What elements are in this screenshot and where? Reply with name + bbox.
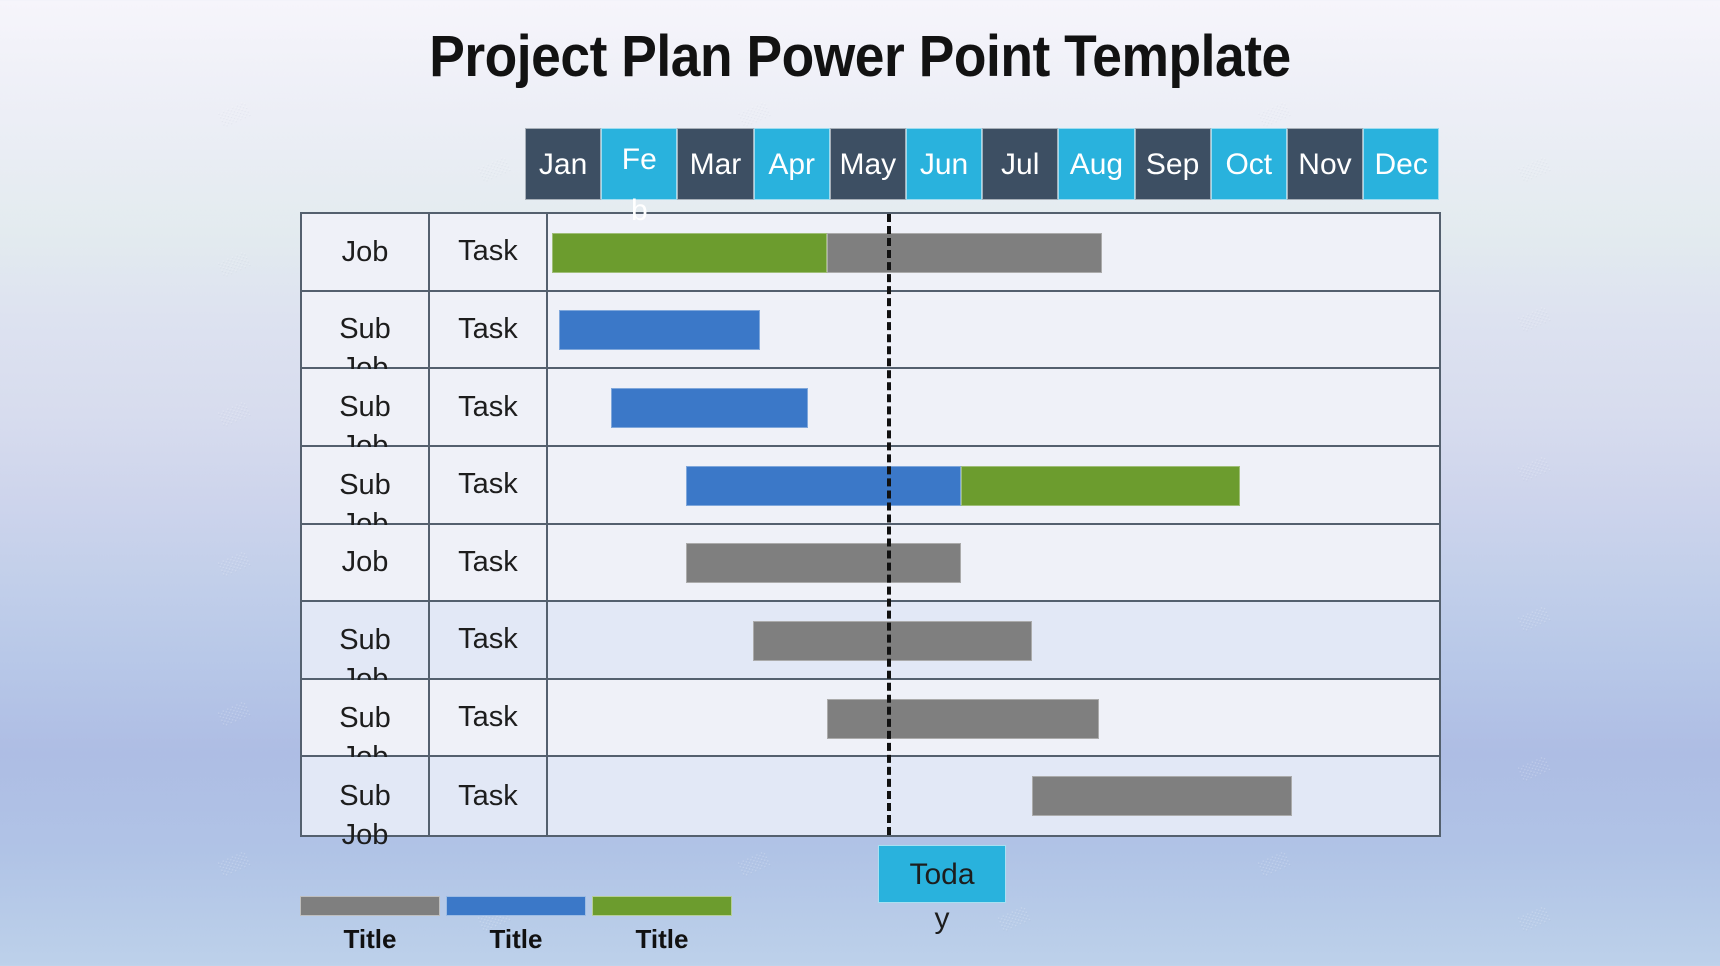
- month-header-dec[interactable]: Dec: [1363, 128, 1439, 200]
- month-label: Dec: [1364, 129, 1438, 201]
- watermark-text: ░░░: [1518, 606, 1552, 632]
- row-job-label: Job: [302, 233, 428, 271]
- gantt-rows: JobTaskSubJobTaskSubJobTaskSubJobTaskJob…: [302, 214, 1439, 835]
- month-header-feb[interactable]: Feb: [601, 128, 677, 200]
- table-row[interactable]: SubJobTask: [302, 292, 1439, 370]
- row-job-label: SubJob: [302, 621, 428, 659]
- watermark-text: ░░░: [1518, 306, 1552, 332]
- watermark-text: ░░░: [738, 851, 772, 877]
- month-header-jan[interactable]: Jan: [525, 128, 601, 200]
- row-task-cell: Task: [430, 602, 548, 678]
- month-header-mar[interactable]: Mar: [677, 128, 753, 200]
- row-job-cell: SubJob: [302, 447, 430, 523]
- month-label: Fe: [602, 129, 676, 191]
- month-label: Jan: [526, 129, 600, 201]
- row-job-label: SubJob: [302, 777, 428, 815]
- month-label: Apr: [755, 129, 829, 201]
- table-row[interactable]: SubJobTask: [302, 602, 1439, 680]
- watermark-text: ░░░: [218, 851, 252, 877]
- row-task-label: Task: [458, 623, 518, 656]
- row-task-cell: Task: [430, 680, 548, 756]
- month-label: Mar: [678, 129, 752, 201]
- legend-label: Title: [592, 924, 732, 954]
- row-job-cell: Job: [302, 525, 430, 601]
- row-job-cell: SubJob: [302, 757, 430, 835]
- row-task-cell: Task: [430, 525, 548, 601]
- month-header-apr[interactable]: Apr: [754, 128, 830, 200]
- legend-label: Title: [446, 924, 586, 954]
- row-task-label: Task: [458, 780, 518, 813]
- today-badge-label: Toda: [909, 858, 974, 891]
- watermark-text: ░░░: [218, 551, 252, 577]
- row-task-label: Task: [458, 546, 518, 579]
- today-badge[interactable]: Toda y: [878, 845, 1006, 903]
- row-task-label: Task: [458, 701, 518, 734]
- watermark-text: ░░░: [218, 701, 252, 727]
- month-label: Nov: [1288, 129, 1362, 201]
- month-label: May: [831, 129, 905, 201]
- row-job-cell: SubJob: [302, 680, 430, 756]
- month-header-may[interactable]: May: [830, 128, 906, 200]
- month-label: Jun: [907, 129, 981, 201]
- table-row[interactable]: JobTask: [302, 214, 1439, 292]
- row-task-cell: Task: [430, 292, 548, 368]
- watermark-text: ░░░: [1518, 906, 1552, 932]
- legend-item[interactable]: Title: [446, 896, 586, 954]
- watermark-text: ░░░: [1258, 851, 1292, 877]
- month-header-strip: JanFebMarAprMayJunJulAugSepOctNovDec: [525, 128, 1439, 200]
- month-label-overflow: b: [602, 191, 676, 231]
- table-row[interactable]: SubJobTask: [302, 447, 1439, 525]
- row-job-cell: SubJob: [302, 602, 430, 678]
- row-task-label: Task: [458, 468, 518, 501]
- legend-swatch: [592, 896, 732, 916]
- month-header-aug[interactable]: Aug: [1058, 128, 1134, 200]
- watermark-text: ░░░: [738, 101, 772, 127]
- row-task-cell: Task: [430, 447, 548, 523]
- row-job-cell: SubJob: [302, 292, 430, 368]
- watermark-text: ░░░: [1518, 156, 1552, 182]
- table-row[interactable]: SubJobTask: [302, 680, 1439, 758]
- watermark-text: ░░░: [218, 401, 252, 427]
- legend-swatch: [446, 896, 586, 916]
- month-label: Aug: [1059, 129, 1133, 201]
- row-task-label: Task: [458, 235, 518, 268]
- row-task-cell: Task: [430, 214, 548, 290]
- legend-swatch: [300, 896, 440, 916]
- legend: TitleTitleTitle: [300, 896, 732, 954]
- row-job-label: SubJob: [302, 466, 428, 504]
- month-header-nov[interactable]: Nov: [1287, 128, 1363, 200]
- watermark-text: ░░░: [478, 156, 512, 182]
- legend-label: Title: [300, 924, 440, 954]
- legend-item[interactable]: Title: [592, 896, 732, 954]
- today-marker-line: [887, 214, 891, 835]
- watermark-text: ░░░: [1518, 456, 1552, 482]
- gantt-grid: JobTaskSubJobTaskSubJobTaskSubJobTaskJob…: [300, 212, 1441, 837]
- month-header-oct[interactable]: Oct: [1211, 128, 1287, 200]
- row-job-label: Job: [302, 543, 428, 581]
- watermark-text: ░░░: [218, 251, 252, 277]
- table-row[interactable]: SubJobTask: [302, 369, 1439, 447]
- table-row[interactable]: SubJobTask: [302, 757, 1439, 835]
- month-label: Oct: [1212, 129, 1286, 201]
- row-job-label: SubJob: [302, 310, 428, 348]
- row-task-label: Task: [458, 391, 518, 424]
- row-task-label: Task: [458, 313, 518, 346]
- row-job-cell: Job: [302, 214, 430, 290]
- watermark-text: ░░░: [218, 101, 252, 127]
- page-title: Project Plan Power Point Template: [69, 22, 1651, 92]
- month-label: Sep: [1136, 129, 1210, 201]
- row-task-cell: Task: [430, 757, 548, 835]
- watermark-text: ░░░: [1518, 756, 1552, 782]
- month-header-jul[interactable]: Jul: [982, 128, 1058, 200]
- watermark-text: ░░░: [1258, 101, 1292, 127]
- month-header-jun[interactable]: Jun: [906, 128, 982, 200]
- row-job-label-overflow: Job: [302, 815, 428, 855]
- table-row[interactable]: JobTask: [302, 525, 1439, 603]
- row-task-cell: Task: [430, 369, 548, 445]
- today-badge-overflow: y: [879, 898, 1005, 940]
- row-job-label: SubJob: [302, 699, 428, 737]
- legend-item[interactable]: Title: [300, 896, 440, 954]
- row-job-cell: SubJob: [302, 369, 430, 445]
- row-job-label: SubJob: [302, 388, 428, 426]
- month-label: Jul: [983, 129, 1057, 201]
- month-header-sep[interactable]: Sep: [1135, 128, 1211, 200]
